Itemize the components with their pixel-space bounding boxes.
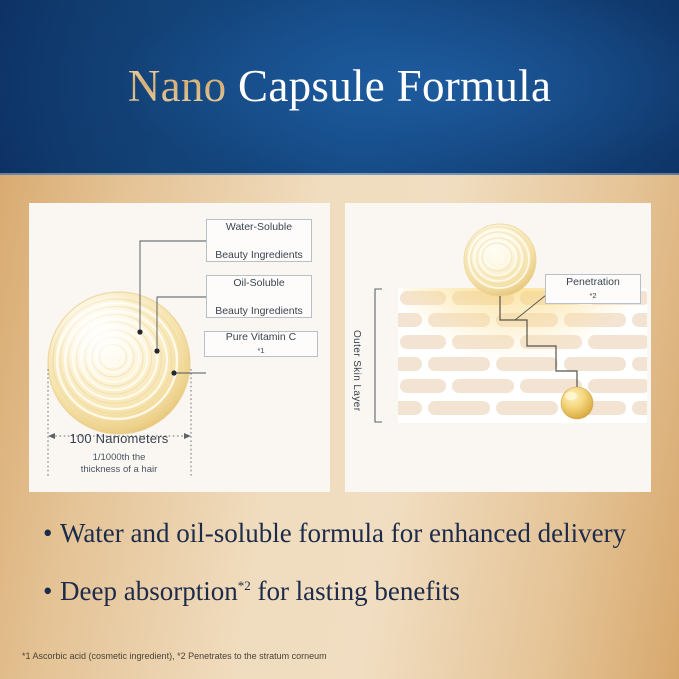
benefit-item-1: •Water and oil-soluble formula for enhan… bbox=[43, 516, 663, 550]
penetrating-capsule bbox=[464, 224, 536, 296]
nano-capsule-sphere bbox=[48, 292, 190, 434]
benefit-item-2-text-before: Deep absorption bbox=[60, 576, 238, 606]
footnote-text: *1 Ascorbic acid (cosmetic ingredient), … bbox=[22, 650, 327, 662]
label-penetration-text: Penetration bbox=[566, 275, 620, 289]
label-pure-vitamin-c: Pure Vitamin C*1 bbox=[204, 331, 318, 357]
measurement-label: 100 Nanometers bbox=[49, 430, 189, 448]
label-oil-soluble: Oil-Soluble Beauty Ingredients bbox=[206, 275, 312, 318]
nano-capsule-formula-infographic: Nano Capsule Formula bbox=[0, 0, 679, 679]
absorbed-droplet bbox=[561, 387, 593, 419]
benefit-item-2-text-after: for lasting benefits bbox=[251, 576, 460, 606]
measurement-sublabel: 1/1000th the thickness of a hair bbox=[49, 452, 189, 476]
label-pure-vitamin-c-footnote-marker: *1 bbox=[226, 344, 296, 358]
benefit-item-1-text: Water and oil-soluble formula for enhanc… bbox=[60, 518, 626, 548]
label-oil-soluble-line2: Beauty Ingredients bbox=[215, 304, 303, 318]
label-water-soluble-line2: Beauty Ingredients bbox=[215, 248, 303, 262]
page-title-gold-word: Nano bbox=[128, 61, 227, 111]
measurement-sublabel-line1: 1/1000th the bbox=[93, 452, 146, 463]
label-water-soluble-line1: Water-Soluble bbox=[215, 220, 303, 234]
outer-skin-layer-bracket bbox=[375, 289, 382, 422]
right-diagram-panel bbox=[345, 203, 651, 492]
label-penetration: Penetration*2 bbox=[545, 274, 641, 304]
outer-skin-layer-label: Outer Skin Layer bbox=[351, 330, 362, 411]
page-title-white-words: Capsule Formula bbox=[238, 61, 551, 111]
label-pure-vitamin-c-text: Pure Vitamin C bbox=[226, 330, 296, 344]
label-oil-soluble-line1: Oil-Soluble bbox=[215, 276, 303, 290]
measurement-sublabel-line2: thickness of a hair bbox=[81, 464, 158, 475]
bullet-marker-1: • bbox=[43, 516, 60, 550]
benefit-item-2-footnote-marker: *2 bbox=[238, 578, 251, 593]
label-water-soluble: Water-Soluble Beauty Ingredients bbox=[206, 219, 312, 262]
right-panel-graphics bbox=[345, 203, 651, 492]
benefit-item-2: •Deep absorption*2 for lasting benefits bbox=[43, 569, 663, 608]
benefits-list: •Water and oil-soluble formula for enhan… bbox=[43, 516, 663, 627]
bullet-marker-2: • bbox=[43, 574, 60, 608]
page-title: Nano Capsule Formula bbox=[0, 57, 679, 115]
label-penetration-footnote-marker: *2 bbox=[566, 289, 620, 303]
